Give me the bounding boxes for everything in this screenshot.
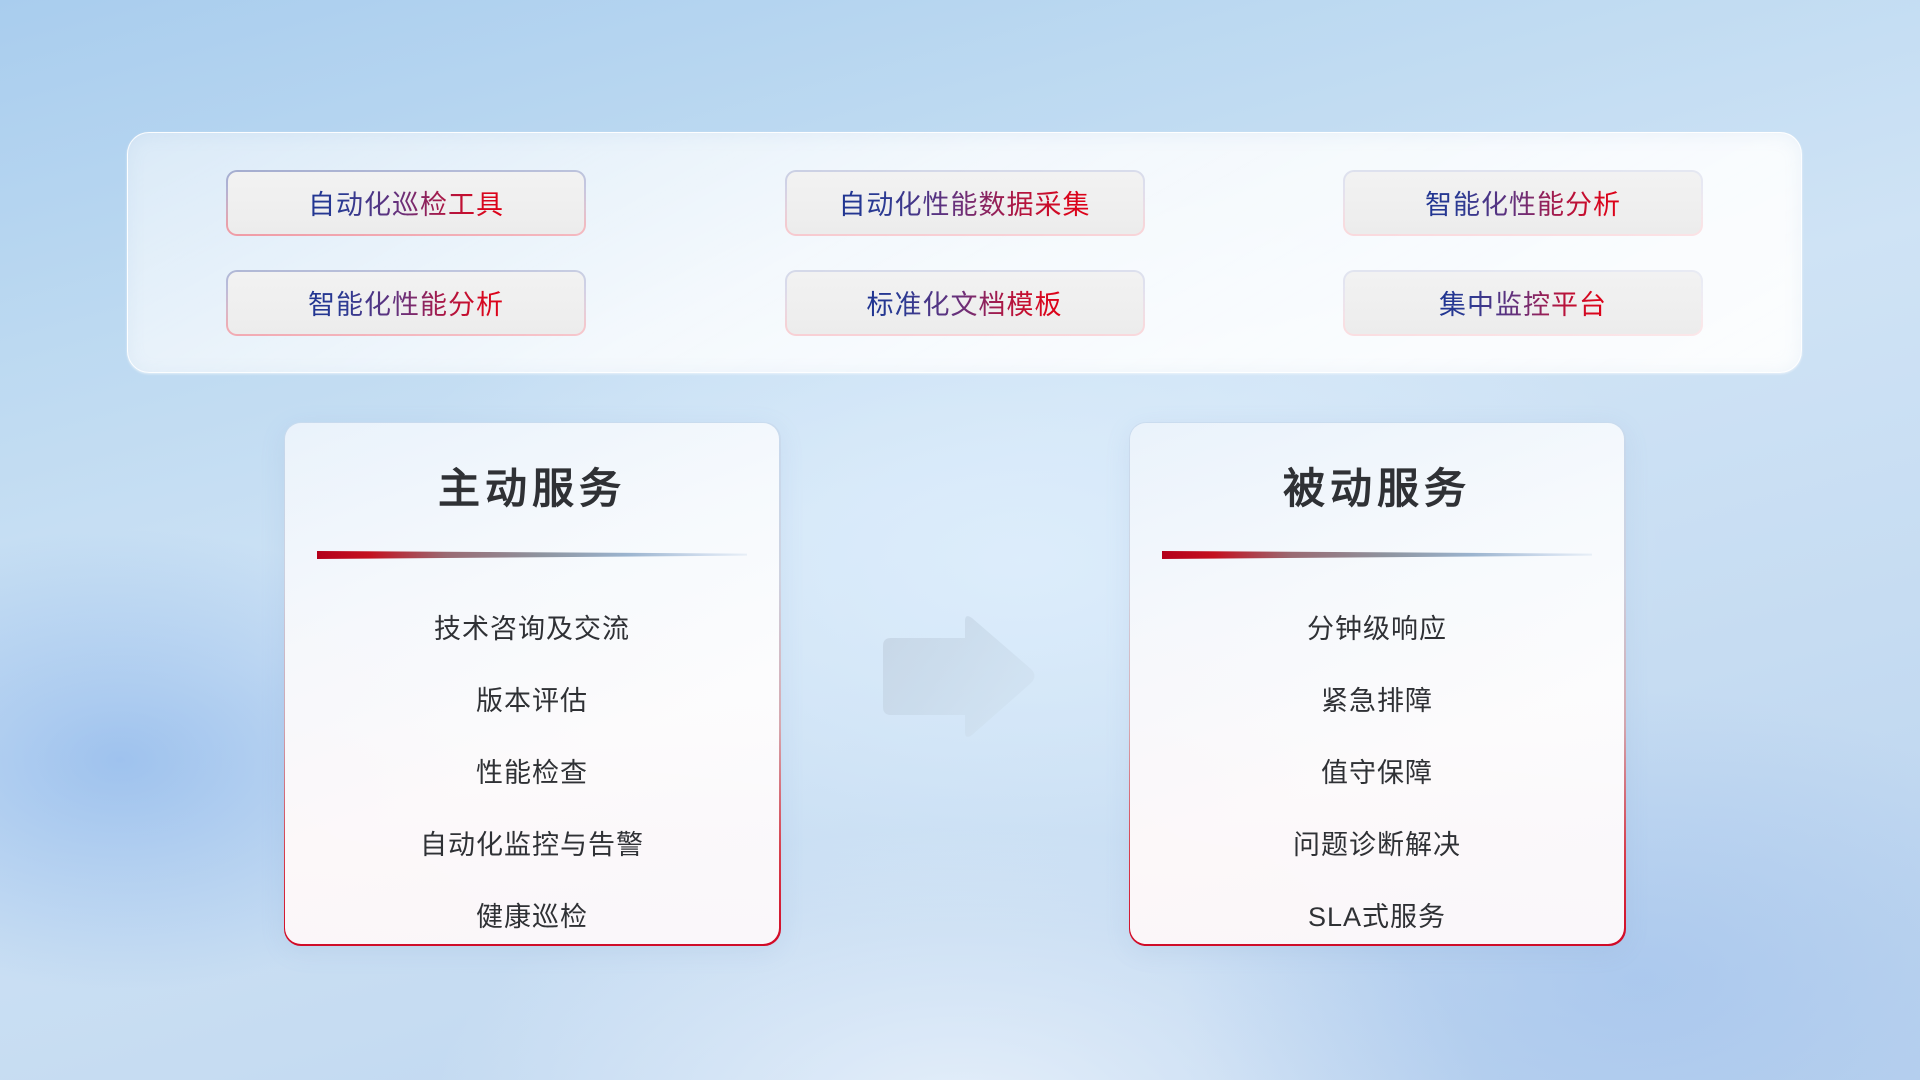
pill-centralized-monitoring-platform[interactable]: 集中监控平台: [1345, 272, 1701, 334]
pill-label: 集中监控平台: [1439, 283, 1607, 322]
pill-automated-performance-data-collection[interactable]: 自动化性能数据采集: [787, 172, 1143, 234]
card-item: 值守保障: [1130, 734, 1624, 806]
card-item: 问题诊断解决: [1130, 806, 1624, 878]
pill-label: 自动化性能数据采集: [839, 183, 1091, 222]
pill-label: 自动化巡检工具: [308, 183, 504, 222]
card-title: 主动服务: [285, 455, 779, 516]
card-title: 被动服务: [1130, 455, 1624, 516]
pill-grid: 自动化巡检工具 自动化性能数据采集 智能化性能分析 智能化性能分析 标准化文档模…: [128, 133, 1801, 372]
card-item: 紧急排障: [1130, 662, 1624, 734]
pill-intelligent-performance-analysis-1[interactable]: 智能化性能分析: [1345, 172, 1701, 234]
pill-intelligent-performance-analysis-2[interactable]: 智能化性能分析: [228, 272, 584, 334]
card-divider: [317, 550, 747, 559]
card-item: 技术咨询及交流: [285, 590, 779, 662]
card-item: 健康巡检: [285, 878, 779, 950]
pill-standardized-document-template[interactable]: 标准化文档模板: [787, 272, 1143, 334]
card-item: SLA式服务: [1130, 878, 1624, 950]
card-reactive-service[interactable]: 被动服务 分钟级响应 紧急排障 值守保障 问题诊断解决 SLA式服务: [1130, 423, 1624, 944]
card-item-list: 技术咨询及交流 版本评估 性能检查 自动化监控与告警 健康巡检: [285, 590, 779, 950]
card-item-list: 分钟级响应 紧急排障 值守保障 问题诊断解决 SLA式服务: [1130, 590, 1624, 950]
card-item: 分钟级响应: [1130, 590, 1624, 662]
card-divider: [1162, 550, 1592, 559]
pill-label: 智能化性能分析: [1425, 183, 1621, 222]
arrow-right-icon: [873, 612, 1038, 742]
pill-automated-inspection-tool[interactable]: 自动化巡检工具: [228, 172, 584, 234]
card-item: 性能检查: [285, 734, 779, 806]
card-item: 自动化监控与告警: [285, 806, 779, 878]
capability-pills-panel: 自动化巡检工具 自动化性能数据采集 智能化性能分析 智能化性能分析 标准化文档模…: [127, 132, 1802, 373]
pill-label: 智能化性能分析: [308, 283, 504, 322]
card-item: 版本评估: [285, 662, 779, 734]
pill-label: 标准化文档模板: [867, 283, 1063, 322]
card-proactive-service[interactable]: 主动服务 技术咨询及交流 版本评估 性能检查 自动化监控与告警 健康巡检: [285, 423, 779, 944]
